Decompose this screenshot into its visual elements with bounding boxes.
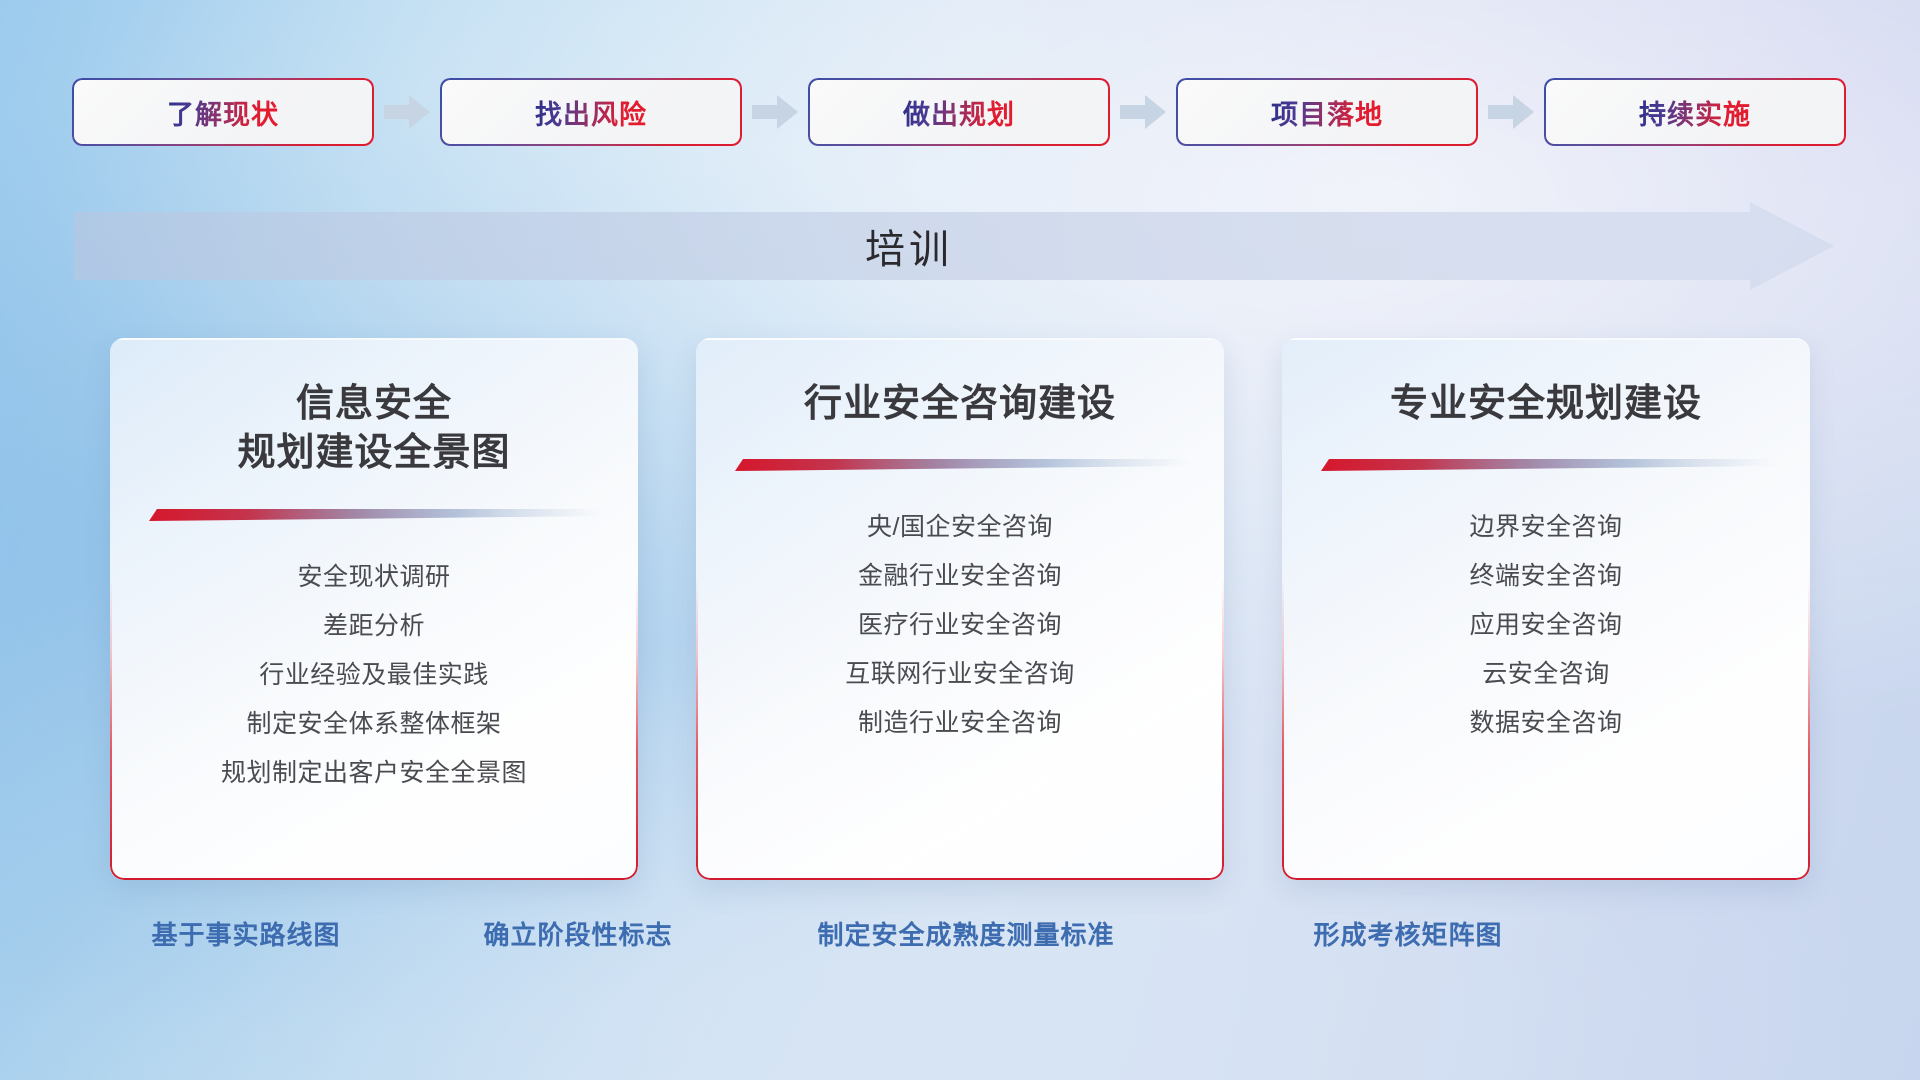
card-list-3: 边界安全咨询 终端安全咨询 应用安全咨询 云安全咨询 数据安全咨询	[1308, 503, 1784, 748]
training-label: 培训	[74, 202, 1834, 290]
step-3: 做出规划	[808, 78, 1176, 146]
list-item: 数据安全咨询	[1308, 699, 1784, 748]
step-1: 了解现状	[72, 78, 440, 146]
list-item: 应用安全咨询	[1308, 601, 1784, 650]
step-box-3[interactable]: 做出规划	[808, 78, 1110, 146]
card-title-2: 行业安全咨询建设	[804, 380, 1116, 429]
list-item: 制造行业安全咨询	[722, 699, 1198, 748]
card-2[interactable]: 行业安全咨询建设	[696, 338, 1224, 880]
caption-row: 基于事实路线图 确立阶段性标志 制定安全成熟度测量标准 形成考核矩阵图	[0, 915, 1920, 955]
step-label-5: 持续实施	[1639, 93, 1751, 132]
training-band: 培训	[74, 202, 1834, 290]
step-2: 找出风险	[440, 78, 808, 146]
caption-2: 确立阶段性标志	[483, 915, 672, 952]
list-item: 制定安全体系整体框架	[136, 700, 612, 749]
list-item: 边界安全咨询	[1308, 503, 1784, 552]
list-item: 安全现状调研	[136, 553, 612, 602]
process-step-row: 了解现状 找出风险 做出规划	[72, 78, 1848, 146]
step-4: 项目落地	[1176, 78, 1544, 146]
step-box-5[interactable]: 持续实施	[1544, 78, 1846, 146]
list-item: 规划制定出客户安全全景图	[136, 749, 612, 798]
list-item: 央/国企安全咨询	[722, 503, 1198, 552]
step-box-4[interactable]: 项目落地	[1176, 78, 1478, 146]
caption-1: 基于事实路线图	[151, 915, 340, 952]
arrow-right-icon	[1478, 78, 1544, 146]
arrow-right-icon	[374, 78, 440, 146]
step-label-4: 项目落地	[1271, 93, 1383, 132]
caption-4: 形成考核矩阵图	[1313, 915, 1502, 952]
arrow-right-icon	[1110, 78, 1176, 146]
caption-3: 制定安全成熟度测量标准	[817, 915, 1114, 952]
arrow-right-icon	[742, 78, 808, 146]
list-item: 云安全咨询	[1308, 650, 1784, 699]
card-title-3: 专业安全规划建设	[1390, 380, 1702, 429]
step-box-1[interactable]: 了解现状	[72, 78, 374, 146]
list-item: 医疗行业安全咨询	[722, 601, 1198, 650]
card-list-2: 央/国企安全咨询 金融行业安全咨询 医疗行业安全咨询 互联网行业安全咨询 制造行…	[722, 503, 1198, 748]
card-divider-3	[1315, 455, 1777, 473]
slide-canvas: 了解现状 找出风险 做出规划	[0, 0, 1920, 1080]
step-box-2[interactable]: 找出风险	[440, 78, 742, 146]
list-item: 终端安全咨询	[1308, 552, 1784, 601]
step-label-2: 找出风险	[535, 93, 647, 132]
list-item: 互联网行业安全咨询	[722, 650, 1198, 699]
list-item: 金融行业安全咨询	[722, 552, 1198, 601]
step-label-1: 了解现状	[167, 93, 279, 132]
card-divider-2	[729, 455, 1191, 473]
card-divider-1	[143, 505, 605, 523]
card-title-1: 信息安全 规划建设全景图	[237, 380, 510, 479]
card-list-1: 安全现状调研 差距分析 行业经验及最佳实践 制定安全体系整体框架 规划制定出客户…	[136, 553, 612, 798]
card-1[interactable]: 信息安全 规划建设全景图	[110, 338, 638, 880]
list-item: 差距分析	[136, 602, 612, 651]
step-label-3: 做出规划	[903, 93, 1015, 132]
card-3[interactable]: 专业安全规划建设	[1282, 338, 1810, 880]
card-row: 信息安全 规划建设全景图	[110, 338, 1810, 880]
list-item: 行业经验及最佳实践	[136, 651, 612, 700]
step-5: 持续实施	[1544, 78, 1846, 146]
